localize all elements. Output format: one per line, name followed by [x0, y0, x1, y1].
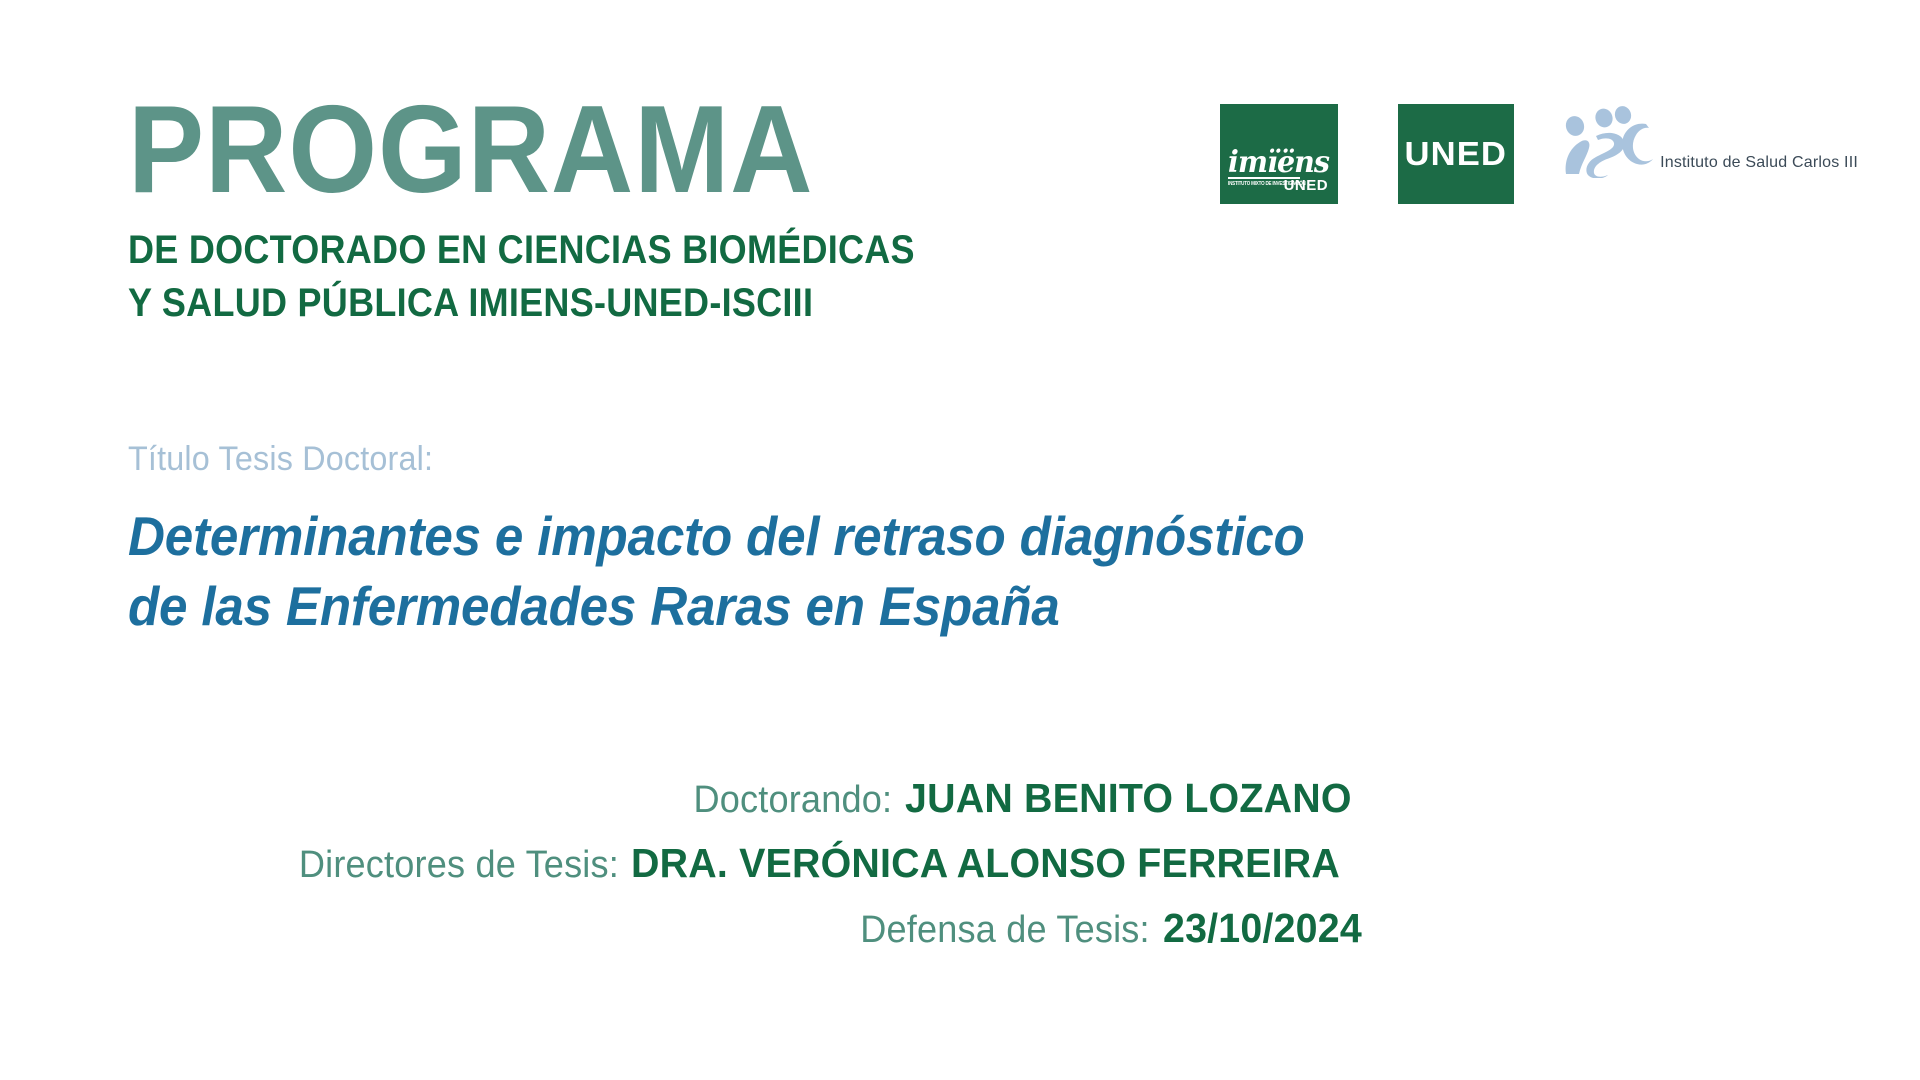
uned-wordmark: UNED	[1405, 135, 1507, 173]
uned-logo: UNED	[1398, 104, 1514, 204]
program-subtitle-line-1: DE DOCTORADO EN CIENCIAS BIOMÉDICAS	[128, 224, 1118, 277]
program-header: PROGRAMA DE DOCTORADO EN CIENCIAS BIOMÉD…	[128, 92, 1228, 329]
thesis-title-line-1: Determinantes e impacto del retraso diag…	[128, 501, 1430, 571]
isciii-logo-text: Instituto de Salud Carlos III	[1660, 154, 1858, 172]
logo-bar: imïëns INSTITUTO MIXTO DE INVESTIGACIÓN …	[1220, 104, 1858, 204]
credits-block: Doctorando: JUAN BENITO LOZANO Directore…	[0, 775, 1370, 970]
credit-row-defensa: Defensa de Tesis: 23/10/2024	[845, 905, 1370, 952]
imiens-partner-uned: UNED	[1284, 177, 1329, 194]
credit-label-directores: Directores de Tesis:	[298, 844, 618, 887]
credit-label-defensa: Defensa de Tesis:	[860, 909, 1150, 952]
isciii-monogram-icon	[1560, 104, 1656, 178]
credit-value-defensa: 23/10/2024	[1163, 905, 1362, 952]
program-subtitle-line-2: Y SALUD PÚBLICA IMIENS-UNED-ISCIII	[128, 277, 1118, 330]
credit-row-directores: Directores de Tesis: DRA. VERÓNICA ALONS…	[282, 840, 1371, 887]
imiens-wordmark: imïëns	[1228, 150, 1325, 176]
presentation-slide: PROGRAMA DE DOCTORADO EN CIENCIAS BIOMÉD…	[0, 0, 1920, 1080]
isciii-logo: Instituto de Salud Carlos III	[1560, 104, 1858, 192]
credit-value-directores: DRA. VERÓNICA ALONSO FERREIRA	[631, 840, 1340, 887]
thesis-kicker-label: Título Tesis Doctoral:	[128, 440, 1458, 479]
credit-row-doctorando: Doctorando: JUAN BENITO LOZANO	[683, 775, 1370, 822]
thesis-title-block: Título Tesis Doctoral: Determinantes e i…	[128, 440, 1528, 642]
thesis-title-line-2: de las Enfermedades Raras en España	[128, 571, 1430, 641]
credit-value-doctorando: JUAN BENITO LOZANO	[905, 775, 1352, 822]
credit-label-doctorando: Doctorando:	[693, 779, 892, 822]
imiens-logo: imïëns INSTITUTO MIXTO DE INVESTIGACIÓN …	[1220, 104, 1338, 204]
program-title: PROGRAMA	[128, 92, 1140, 210]
